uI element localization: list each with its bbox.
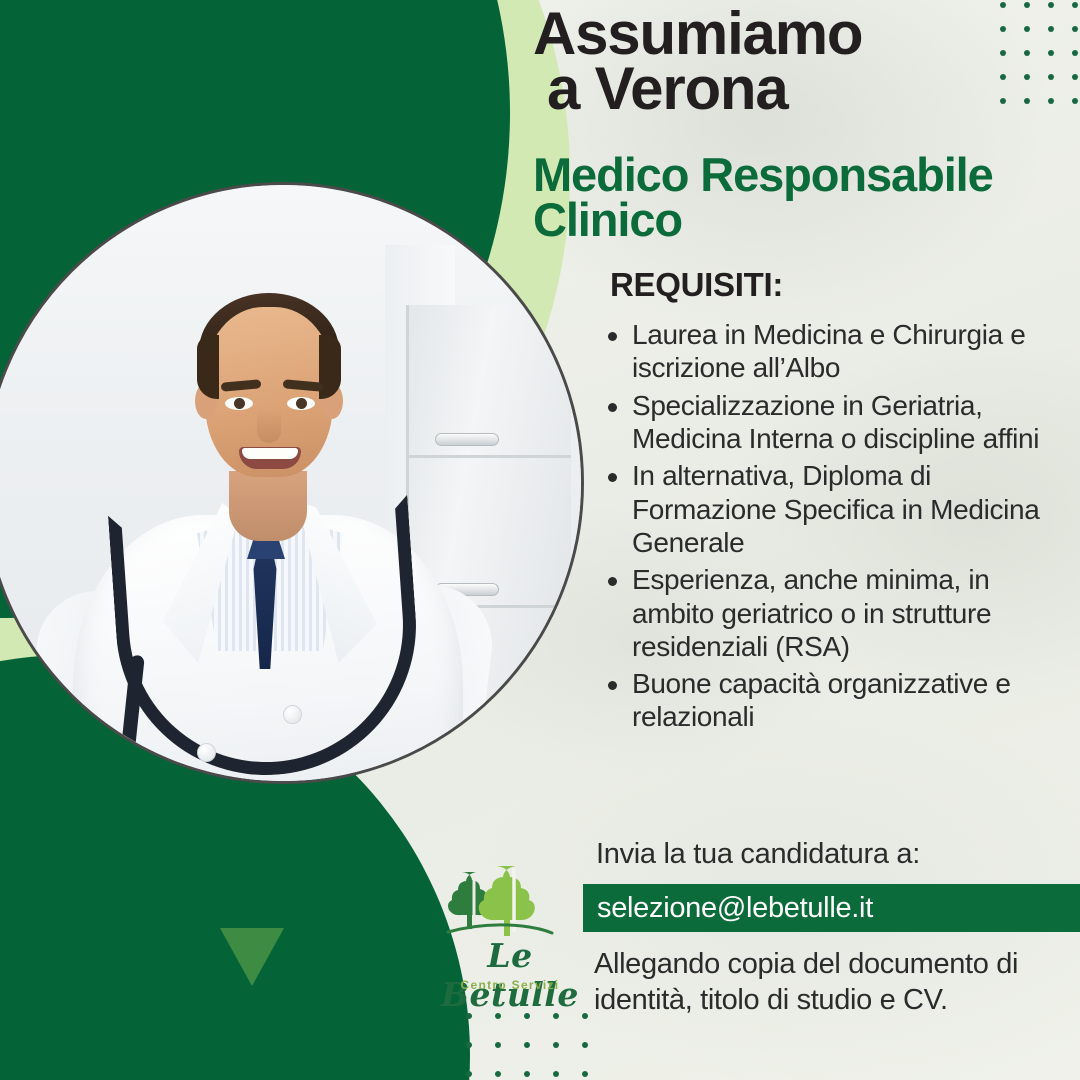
dot bbox=[466, 1071, 472, 1077]
email-bar[interactable]: selezione@lebetulle.it bbox=[583, 884, 1080, 932]
logo-tagline: Centro Servizi bbox=[430, 978, 590, 992]
bottom-left-green-blob-fill bbox=[0, 905, 200, 1080]
company-logo: Le Betulle Centro Servizi bbox=[430, 862, 590, 1012]
requirements-list: Laurea in Medicina e Chirurgia e iscrizi… bbox=[602, 318, 1072, 738]
requirement-item: Buone capacità organizzative e relaziona… bbox=[602, 667, 1072, 734]
requirement-item: Esperienza, anche minima, in ambito geri… bbox=[602, 563, 1072, 663]
requirement-item: Laurea in Medicina e Chirurgia e iscrizi… bbox=[602, 318, 1072, 385]
dot bbox=[495, 1071, 501, 1077]
hair-side-right bbox=[319, 335, 341, 399]
headline-line-2: a Verona bbox=[547, 61, 862, 116]
green-chevron-accent bbox=[220, 928, 284, 986]
birch-trees-icon bbox=[430, 862, 590, 940]
eye-left bbox=[225, 397, 253, 410]
coat-button bbox=[283, 705, 302, 724]
content-column: Assumiamo a Verona Medico Responsabile C… bbox=[530, 0, 1080, 1080]
nose bbox=[257, 409, 281, 443]
requirements-heading: REQUISITI: bbox=[610, 266, 783, 304]
job-title-line-2: Clinico bbox=[533, 193, 682, 246]
coat-button bbox=[197, 743, 216, 762]
eye-right bbox=[287, 397, 315, 410]
requirement-item: In alternativa, Diploma di Formazione Sp… bbox=[602, 459, 1072, 559]
smile bbox=[239, 447, 301, 469]
dot bbox=[466, 1042, 472, 1048]
closing-instructions: Allegando copia del documento di identit… bbox=[594, 946, 1080, 1019]
recruitment-poster: Assumiamo a Verona Medico Responsabile C… bbox=[0, 0, 1080, 1080]
requirement-item: Specializzazione in Geriatria, Medicina … bbox=[602, 389, 1072, 456]
job-title: Medico Responsabile Clinico bbox=[533, 152, 993, 242]
cta-label: Invia la tua candidatura a: bbox=[596, 838, 920, 871]
hair-side-left bbox=[197, 335, 219, 399]
doctor-photo bbox=[0, 182, 584, 784]
page-title: Assumiamo a Verona bbox=[533, 6, 862, 116]
email-address[interactable]: selezione@lebetulle.it bbox=[583, 892, 873, 925]
dot bbox=[495, 1042, 501, 1048]
logo-name: Le Betulle bbox=[430, 936, 590, 1014]
